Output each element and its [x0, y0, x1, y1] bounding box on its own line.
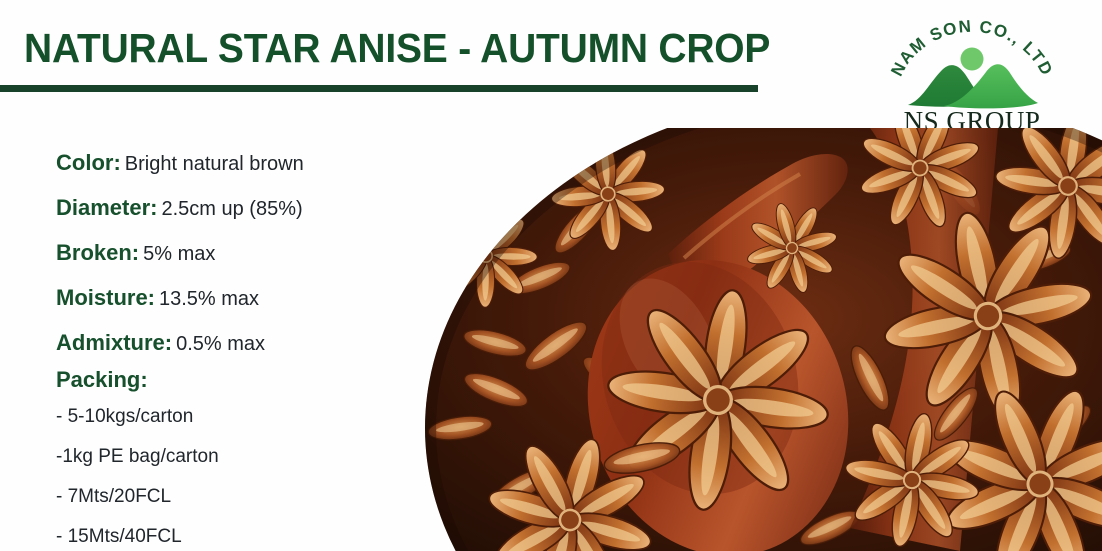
spec-label-color: Color: [56, 150, 121, 175]
title-underline-rule [0, 85, 758, 92]
spec-value-moisture: 13.5% max [155, 288, 259, 310]
specification-list: Color:Bright natural brown Diameter:2.5c… [56, 140, 456, 365]
company-logo: NAM SON CO., LTD NS GROUP [882, 8, 1062, 136]
page-title: NATURAL STAR ANISE - AUTUMN CROP [24, 25, 770, 71]
sun-icon [961, 48, 984, 71]
packing-item: - 7Mts/20FCL [56, 477, 456, 517]
packing-item: -1kg PE bag/carton [56, 437, 456, 477]
spec-row-diameter: Diameter:2.5cm up (85%) [56, 185, 456, 230]
spec-row-color: Color:Bright natural brown [56, 140, 456, 185]
packing-item: - 5-10kgs/carton [56, 397, 456, 437]
spec-row-moisture: Moisture:13.5% max [56, 275, 456, 320]
packing-item: - 15Mts/40FCL [56, 517, 456, 551]
packing-title: Packing: [56, 363, 456, 397]
product-spec-banner: NATURAL STAR ANISE - AUTUMN CROP NAM SON… [0, 0, 1102, 551]
product-photo [400, 128, 1102, 551]
spec-value-diameter: 2.5cm up (85%) [157, 198, 302, 220]
spec-label-diameter: Diameter: [56, 195, 157, 220]
spec-label-moisture: Moisture: [56, 285, 155, 310]
photo-clipped-content [400, 128, 1102, 551]
spec-label-admixture: Admixture: [56, 330, 172, 355]
spec-value-broken: 5% max [139, 243, 215, 265]
packing-section: Packing: - 5-10kgs/carton -1kg PE bag/ca… [56, 363, 456, 551]
spec-row-broken: Broken:5% max [56, 230, 456, 275]
spec-value-color: Bright natural brown [121, 153, 304, 175]
spec-value-admixture: 0.5% max [172, 333, 265, 355]
spec-label-broken: Broken: [56, 240, 139, 265]
spec-row-admixture: Admixture:0.5% max [56, 320, 456, 365]
